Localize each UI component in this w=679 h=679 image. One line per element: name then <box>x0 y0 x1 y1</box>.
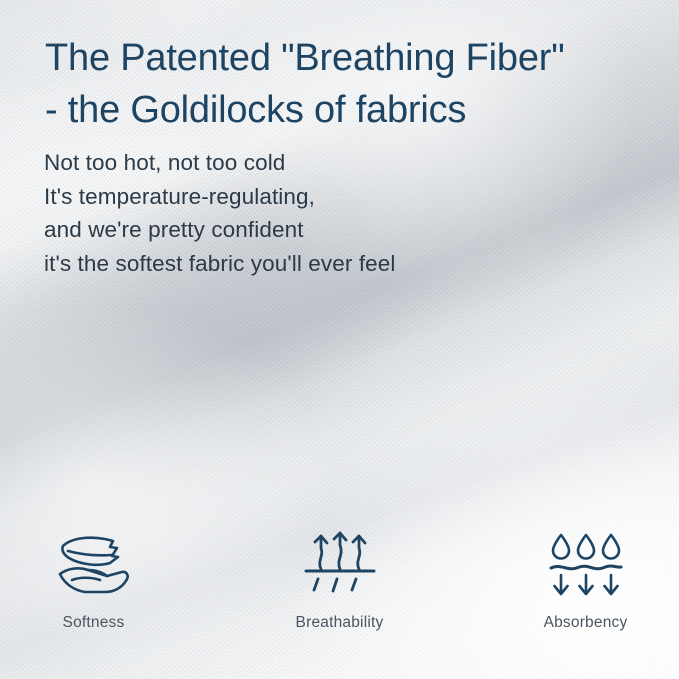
fabric-feature-graphic: The Patented "Breathing Fiber" - the Gol… <box>0 0 679 679</box>
feature-label-breathability: Breathability <box>296 614 384 632</box>
page-subcopy: Not too hot, not too cold It's temperatu… <box>44 146 604 280</box>
feature-label-softness: Softness <box>63 614 125 632</box>
feature-item-softness: Softness <box>19 528 169 632</box>
water-droplets-absorbing-icon <box>548 528 624 604</box>
feature-list: Softness <box>0 528 679 632</box>
page-headline: The Patented "Breathing Fiber" - the Gol… <box>45 32 665 136</box>
feature-item-breathability: Breathability <box>265 528 415 632</box>
feature-label-absorbency: Absorbency <box>544 614 628 632</box>
upward-airflow-arrows-icon <box>304 528 376 604</box>
feather-in-hand-icon <box>55 528 133 604</box>
feature-item-absorbency: Absorbency <box>511 528 661 632</box>
